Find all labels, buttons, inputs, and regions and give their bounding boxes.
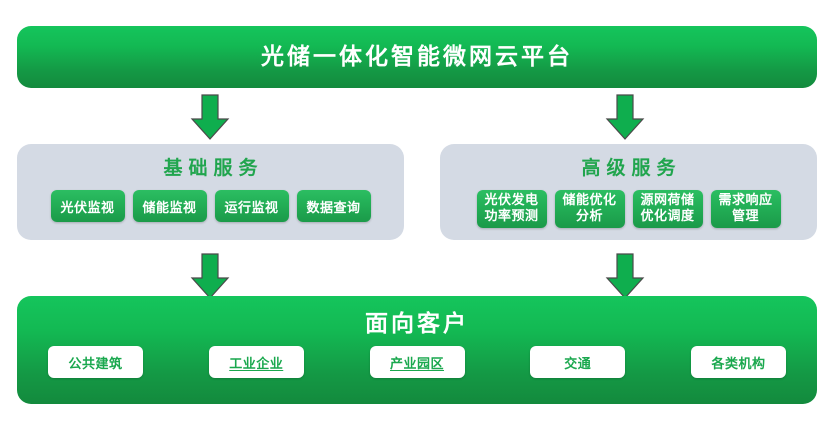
service-chip-label: 运行监视	[224, 197, 278, 216]
arrow-platform-to-basic-icon	[190, 93, 230, 141]
arrow-basic-to-customer-icon	[190, 252, 230, 300]
platform-banner: 光储一体化智能微网云平台	[17, 26, 817, 88]
service-chip-label: 储能监视	[142, 197, 196, 216]
service-chip-label: 光伏监视	[60, 197, 114, 216]
service-chip-label-line2: 优化调度	[640, 209, 694, 225]
basic-service-panel: 基础服务 光伏监视 储能监视 运行监视 数据查询	[17, 144, 404, 240]
service-chip-label-line1: 储能优化	[562, 193, 616, 209]
service-chip-label-line2: 功率预测	[484, 209, 538, 225]
customer-chip-industrial-enterprise[interactable]: 工业企业	[209, 346, 304, 378]
advanced-service-chip-row: 光伏发电 功率预测 储能优化 分析 源网荷储 优化调度 需求响应 管	[440, 190, 817, 228]
arrow-advanced-to-customer-icon	[605, 252, 645, 300]
customer-chip-label: 交通	[564, 353, 591, 372]
platform-title: 光储一体化智能微网云平台	[17, 26, 817, 88]
service-chip-demand-response-management[interactable]: 需求响应 管理	[711, 190, 781, 228]
customer-chip-label: 各类机构	[711, 353, 765, 372]
advanced-service-panel: 高级服务 光伏发电 功率预测 储能优化 分析 源网荷储 优化调度	[440, 144, 817, 240]
service-chip-storage-optimization-analysis[interactable]: 储能优化 分析	[555, 190, 625, 228]
service-chip-storage-monitor[interactable]: 储能监视	[133, 190, 207, 222]
customer-chip-transportation[interactable]: 交通	[530, 346, 625, 378]
customer-banner: 面向客户 公共建筑 工业企业 产业园区 交通 各类机构	[17, 296, 817, 404]
customer-chip-label: 工业企业	[229, 353, 283, 372]
customer-chip-public-building[interactable]: 公共建筑	[48, 346, 143, 378]
advanced-service-title: 高级服务	[440, 144, 817, 180]
customer-title: 面向客户	[17, 296, 817, 339]
service-chip-label-line1: 源网荷储	[640, 193, 694, 209]
service-chip-data-query[interactable]: 数据查询	[297, 190, 371, 222]
customer-chip-label: 公共建筑	[68, 353, 122, 372]
basic-service-title: 基础服务	[17, 144, 404, 180]
service-chip-label-line2: 分析	[562, 209, 616, 225]
service-chip-pv-monitor[interactable]: 光伏监视	[51, 190, 125, 222]
service-chip-label: 数据查询	[306, 197, 360, 216]
service-chip-label-line1: 需求响应	[718, 193, 772, 209]
arrow-platform-to-advanced-icon	[605, 93, 645, 141]
service-chip-operation-monitor[interactable]: 运行监视	[215, 190, 289, 222]
customer-chip-industrial-park[interactable]: 产业园区	[370, 346, 465, 378]
service-chip-pv-power-forecast[interactable]: 光伏发电 功率预测	[477, 190, 547, 228]
architecture-diagram: 光储一体化智能微网云平台 基础服务 光伏监视 储能监视 运行监视 数据查询	[0, 0, 834, 426]
basic-service-chip-row: 光伏监视 储能监视 运行监视 数据查询	[17, 190, 404, 222]
customer-chip-label: 产业园区	[390, 353, 444, 372]
service-chip-label-line1: 光伏发电	[484, 193, 538, 209]
service-chip-source-grid-load-storage-dispatch[interactable]: 源网荷储 优化调度	[633, 190, 703, 228]
customer-chip-institutions[interactable]: 各类机构	[691, 346, 786, 378]
customer-chip-row: 公共建筑 工业企业 产业园区 交通 各类机构	[48, 346, 786, 378]
service-chip-label-line2: 管理	[718, 209, 772, 225]
